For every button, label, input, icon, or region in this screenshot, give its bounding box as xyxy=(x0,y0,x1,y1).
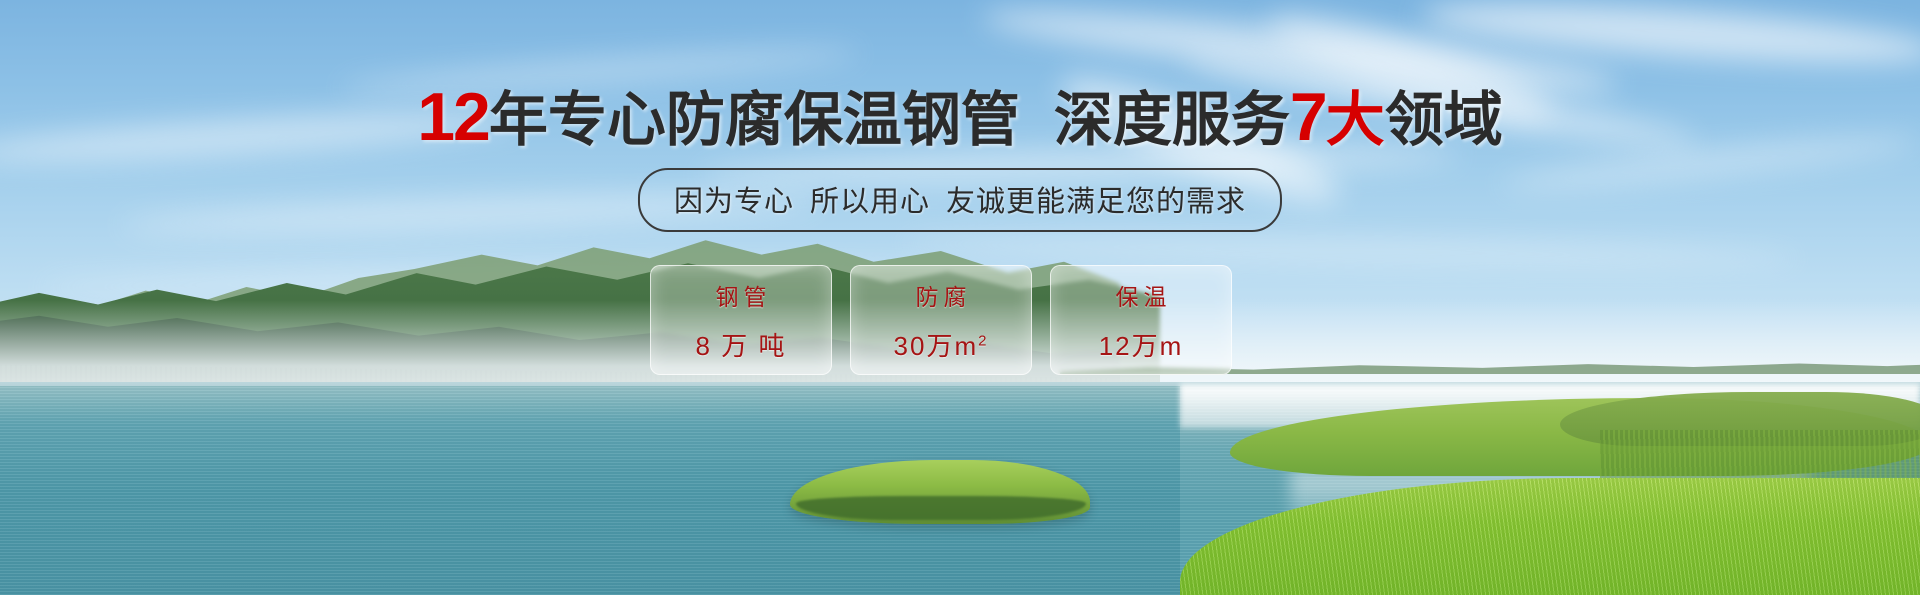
subtitle-part-1: 因为专心 xyxy=(674,186,794,218)
subtitle-part-2: 所以用心 xyxy=(810,186,930,218)
stat-card-value: 8 万 吨 xyxy=(696,326,787,363)
stat-card-value-text: 12万m xyxy=(1099,331,1184,361)
stat-card-anticorrosion: 防腐 30万m2 xyxy=(850,265,1032,375)
stat-card-value-superscript: 2 xyxy=(978,332,988,349)
subtitle-pill: 因为专心所以用心友诚更能满足您的需求 xyxy=(638,168,1282,232)
stat-card-label: 钢管 xyxy=(711,278,772,312)
stat-card-value-text: 8 万 吨 xyxy=(696,331,787,361)
headline-years-number: 12 xyxy=(417,79,489,155)
headline-years-suffix: 年专心防腐保温钢管 xyxy=(489,87,1020,153)
stat-card-insulation: 保温 12万m xyxy=(1050,265,1232,375)
stat-card-label: 保温 xyxy=(1111,278,1172,312)
headline-fields-big: 大 xyxy=(1326,87,1385,153)
subtitle-part-3: 友诚更能满足您的需求 xyxy=(946,186,1246,218)
stat-card-steel-pipe: 钢管 8 万 吨 xyxy=(650,265,832,375)
hero-banner: 12年专心防腐保温钢管深度服务7大领域 因为专心所以用心友诚更能满足您的需求 钢… xyxy=(0,0,1920,595)
stat-card-group: 钢管 8 万 吨 防腐 30万m2 保温 12万m xyxy=(650,265,1232,375)
banner-content: 12年专心防腐保温钢管深度服务7大领域 因为专心所以用心友诚更能满足您的需求 钢… xyxy=(0,0,1920,595)
stat-card-value: 30万m2 xyxy=(894,326,989,363)
headline-fields-suffix: 领域 xyxy=(1385,87,1503,153)
stat-card-value-text: 30万m xyxy=(894,331,979,361)
stat-card-label: 防腐 xyxy=(911,278,972,312)
headline: 12年专心防腐保温钢管深度服务7大领域 xyxy=(0,82,1920,153)
headline-fields-number: 7 xyxy=(1290,79,1326,155)
headline-service-prefix: 深度服务 xyxy=(1054,87,1290,153)
stat-card-value: 12万m xyxy=(1099,326,1184,363)
subtitle: 因为专心所以用心友诚更能满足您的需求 xyxy=(674,178,1246,220)
